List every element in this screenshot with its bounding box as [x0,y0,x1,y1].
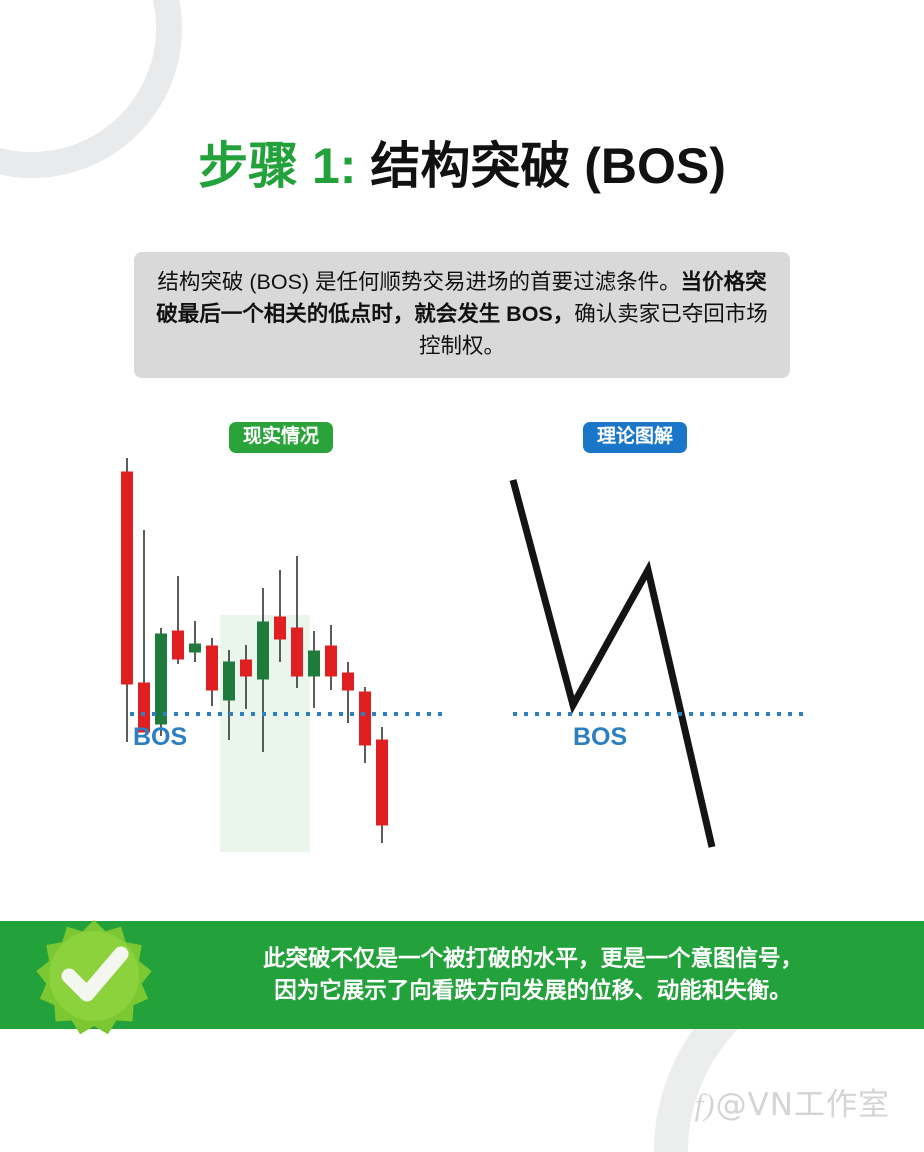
theory-diagram: BOS [490,445,860,865]
page-title: 步骤 1: 结构突破 (BOS) [0,126,924,198]
description-box: 结构突破 (BOS) 是任何顺势交易进场的首要过滤条件。当价格突破最后一个相关的… [134,252,790,378]
candle-0 [122,458,133,742]
bos-label-real: BOS [133,723,187,751]
watermark-logo: f) [695,1087,716,1122]
candle-11 [309,631,320,708]
candle-12 [326,625,337,690]
candle-4 [190,621,201,662]
title-step-label: 步骤 1: [198,138,356,194]
infographic-page: 步骤 1: 结构突破 (BOS) 结构突破 (BOS) 是任何顺势交易进场的首要… [0,0,924,1152]
watermark: f)@VN工作室 [695,1079,890,1124]
candle-14 [360,687,371,763]
bos-label-theory: BOS [573,723,627,751]
watermark-handle: @VN工作室 [716,1087,890,1123]
candle-15 [377,727,388,843]
banner-text: 此突破不仅是一个被打破的水平，更是一个意图信号， 因为它展示了向看跌方向发展的位… [178,943,888,1007]
theory-zigzag-path [513,480,712,847]
candle-2 [156,628,167,736]
check-badge-icon [33,916,155,1038]
candle-5 [207,638,218,706]
description-part1: 结构突破 (BOS) 是任何顺势交易进场的首要过滤条件。 [157,270,680,294]
theory-svg: BOS [490,445,860,865]
candle-3 [173,576,184,664]
banner-line-1: 此突破不仅是一个被打破的水平，更是一个意图信号， [178,943,888,975]
candle-1 [139,530,150,732]
title-main-label: 结构突破 (BOS) [370,138,726,194]
candlestick-chart: BOS [100,445,470,865]
candlestick-svg: BOS [100,445,470,865]
banner-line-2: 因为它展示了向看跌方向发展的位移、动能和失衡。 [178,975,888,1007]
